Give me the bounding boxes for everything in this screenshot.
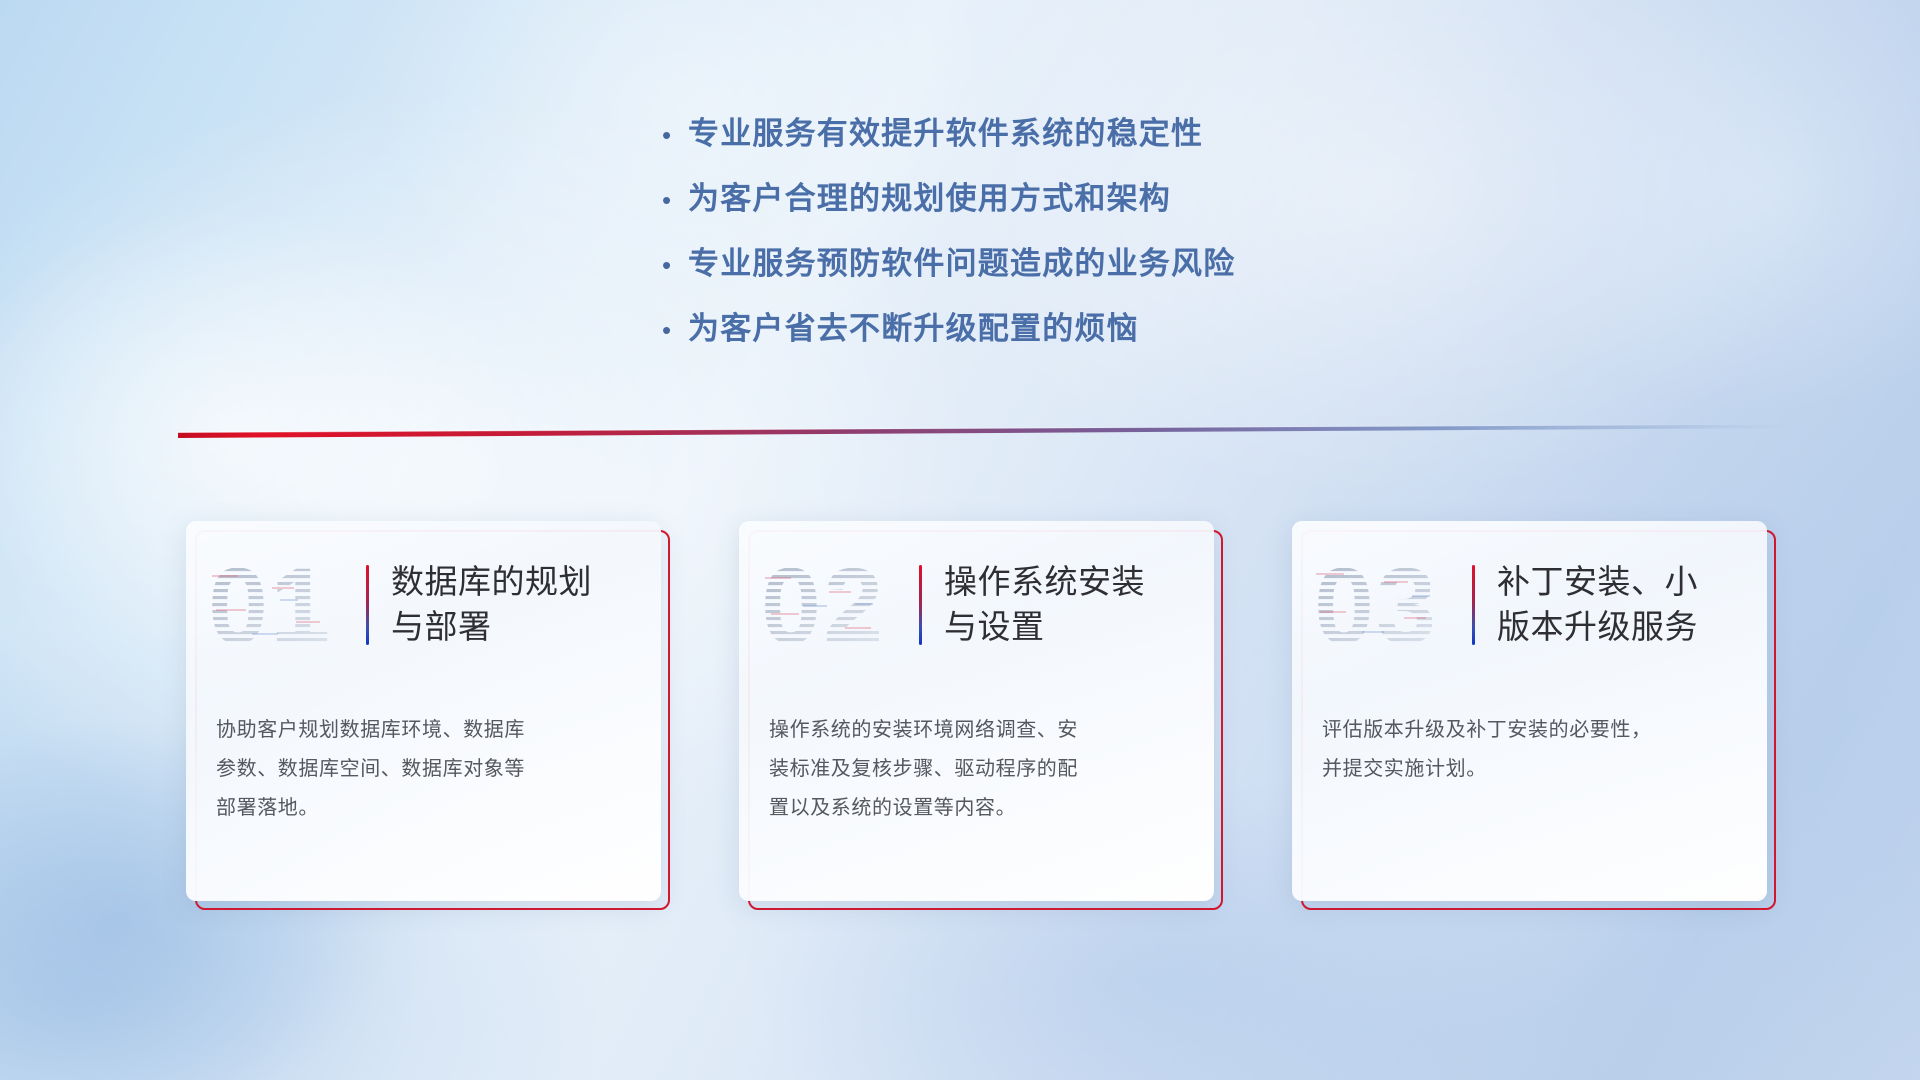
- card-header: 01 数据库的规: [186, 535, 661, 675]
- card-description: 操作系统的安装环境网络调查、安 装标准及复核步骤、驱动程序的配 置以及系统的设置…: [769, 711, 1192, 828]
- card-accent-rule: [366, 565, 369, 645]
- list-item: • 专业服务预防软件问题造成的业务风险: [662, 238, 1422, 303]
- bullet-text: 专业服务有效提升软件系统的稳定性: [688, 108, 1203, 153]
- list-item: • 专业服务有效提升软件系统的稳定性: [662, 108, 1422, 173]
- service-card[interactable]: 03 补丁安装、: [1292, 521, 1767, 901]
- list-item: • 为客户合理的规划使用方式和架构: [662, 173, 1422, 238]
- card-surface: 01 数据库的规: [186, 521, 661, 901]
- striped-number-02: 02: [759, 547, 919, 663]
- benefits-bullet-list: • 专业服务有效提升软件系统的稳定性 • 为客户合理的规划使用方式和架构 • 专…: [662, 108, 1422, 368]
- card-title: 数据库的规划 与部署: [391, 560, 592, 649]
- background-bloom: [1380, 0, 1920, 500]
- card-title: 补丁安装、小 版本升级服务: [1497, 560, 1698, 649]
- svg-text:01: 01: [208, 547, 332, 663]
- bullet-dot-icon: •: [662, 252, 688, 278]
- bullet-dot-icon: •: [662, 317, 688, 343]
- card-accent-rule: [1472, 565, 1475, 645]
- card-number-graphic: 03: [1312, 547, 1472, 663]
- section-divider: [178, 416, 1798, 440]
- bullet-text: 专业服务预防软件问题造成的业务风险: [688, 238, 1235, 283]
- list-item: • 为客户省去不断升级配置的烦恼: [662, 303, 1422, 368]
- bullet-dot-icon: •: [662, 187, 688, 213]
- card-number-graphic: 02: [759, 547, 919, 663]
- card-description: 评估版本升级及补丁安装的必要性， 并提交实施计划。: [1322, 711, 1745, 789]
- card-description: 协助客户规划数据库环境、数据库 参数、数据库空间、数据库对象等 部署落地。: [216, 711, 639, 828]
- bullet-dot-icon: •: [662, 122, 688, 148]
- card-title: 操作系统安装 与设置: [944, 560, 1145, 649]
- card-header: 02 操作系统安: [739, 535, 1214, 675]
- service-card-list: 01 数据库的规: [186, 521, 1746, 911]
- service-card[interactable]: 02 操作系统安: [739, 521, 1214, 901]
- card-accent-rule: [919, 565, 922, 645]
- service-card[interactable]: 01 数据库的规: [186, 521, 661, 901]
- striped-number-03: 03: [1312, 547, 1472, 663]
- bullet-text: 为客户合理的规划使用方式和架构: [688, 173, 1171, 218]
- card-number-graphic: 01: [206, 547, 366, 663]
- bullet-text: 为客户省去不断升级配置的烦恼: [688, 303, 1139, 348]
- card-surface: 03 补丁安装、: [1292, 521, 1767, 901]
- svg-text:03: 03: [1314, 547, 1438, 663]
- card-surface: 02 操作系统安: [739, 521, 1214, 901]
- striped-number-01: 01: [206, 547, 366, 663]
- slide-canvas: • 专业服务有效提升软件系统的稳定性 • 为客户合理的规划使用方式和架构 • 专…: [0, 0, 1920, 1080]
- divider-graphic: [178, 416, 1798, 440]
- card-header: 03 补丁安装、: [1292, 535, 1767, 675]
